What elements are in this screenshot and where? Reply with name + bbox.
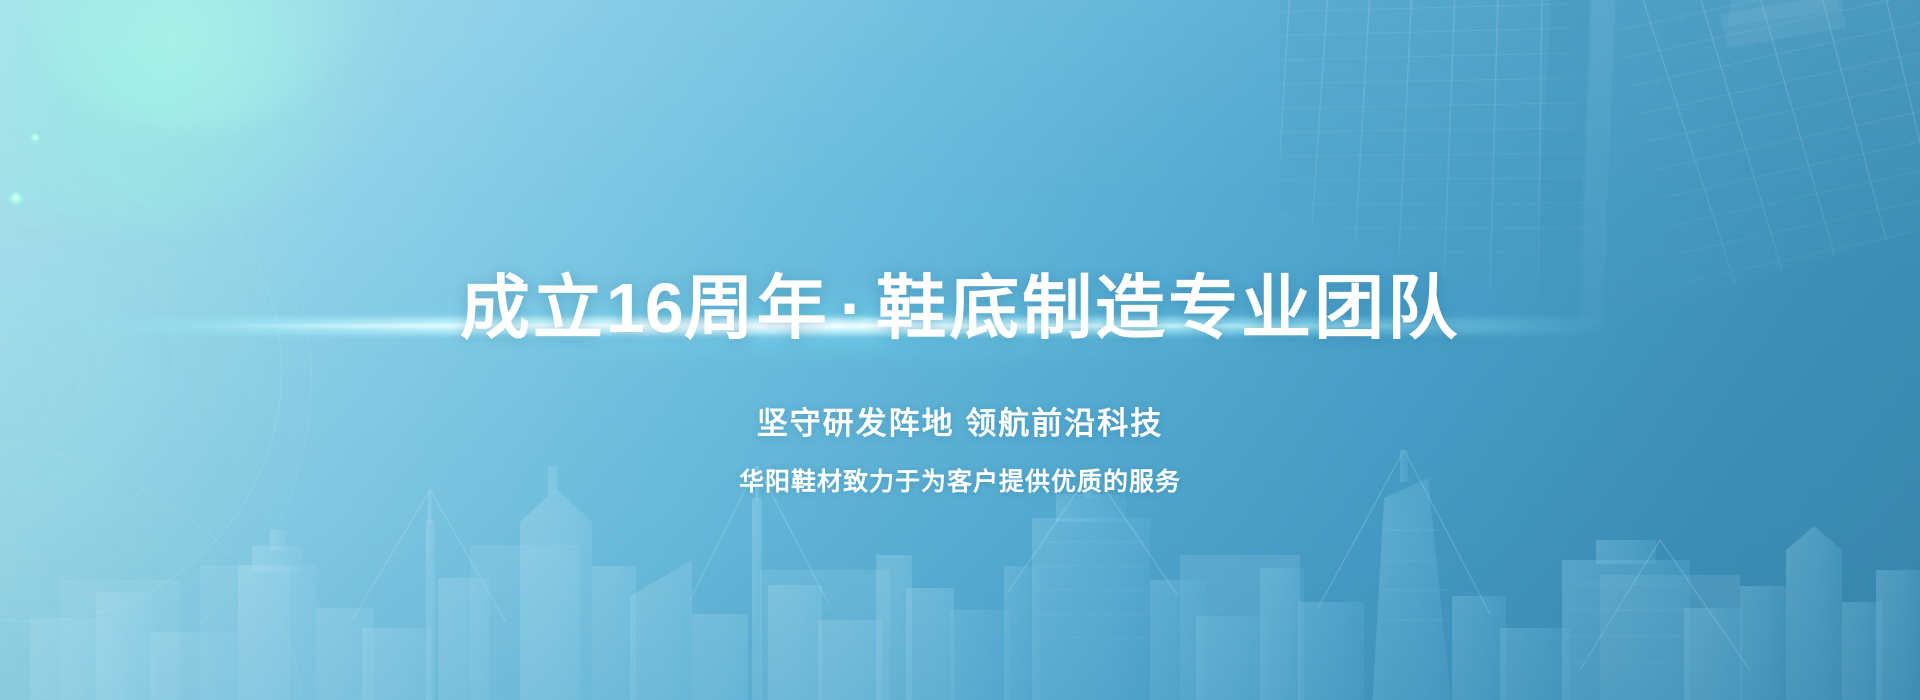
hero-banner: 成立16周年·鞋底制造专业团队 坚守研发阵地 领航前沿科技 华阳鞋材致力于为客户… [0,0,1920,700]
sparkle-icon [8,190,24,206]
light-beam-core [180,324,1470,328]
sparkle-icon [30,132,41,143]
city-skyline-silhouette [0,370,1920,700]
skyscraper-facade-image [1280,0,1920,330]
